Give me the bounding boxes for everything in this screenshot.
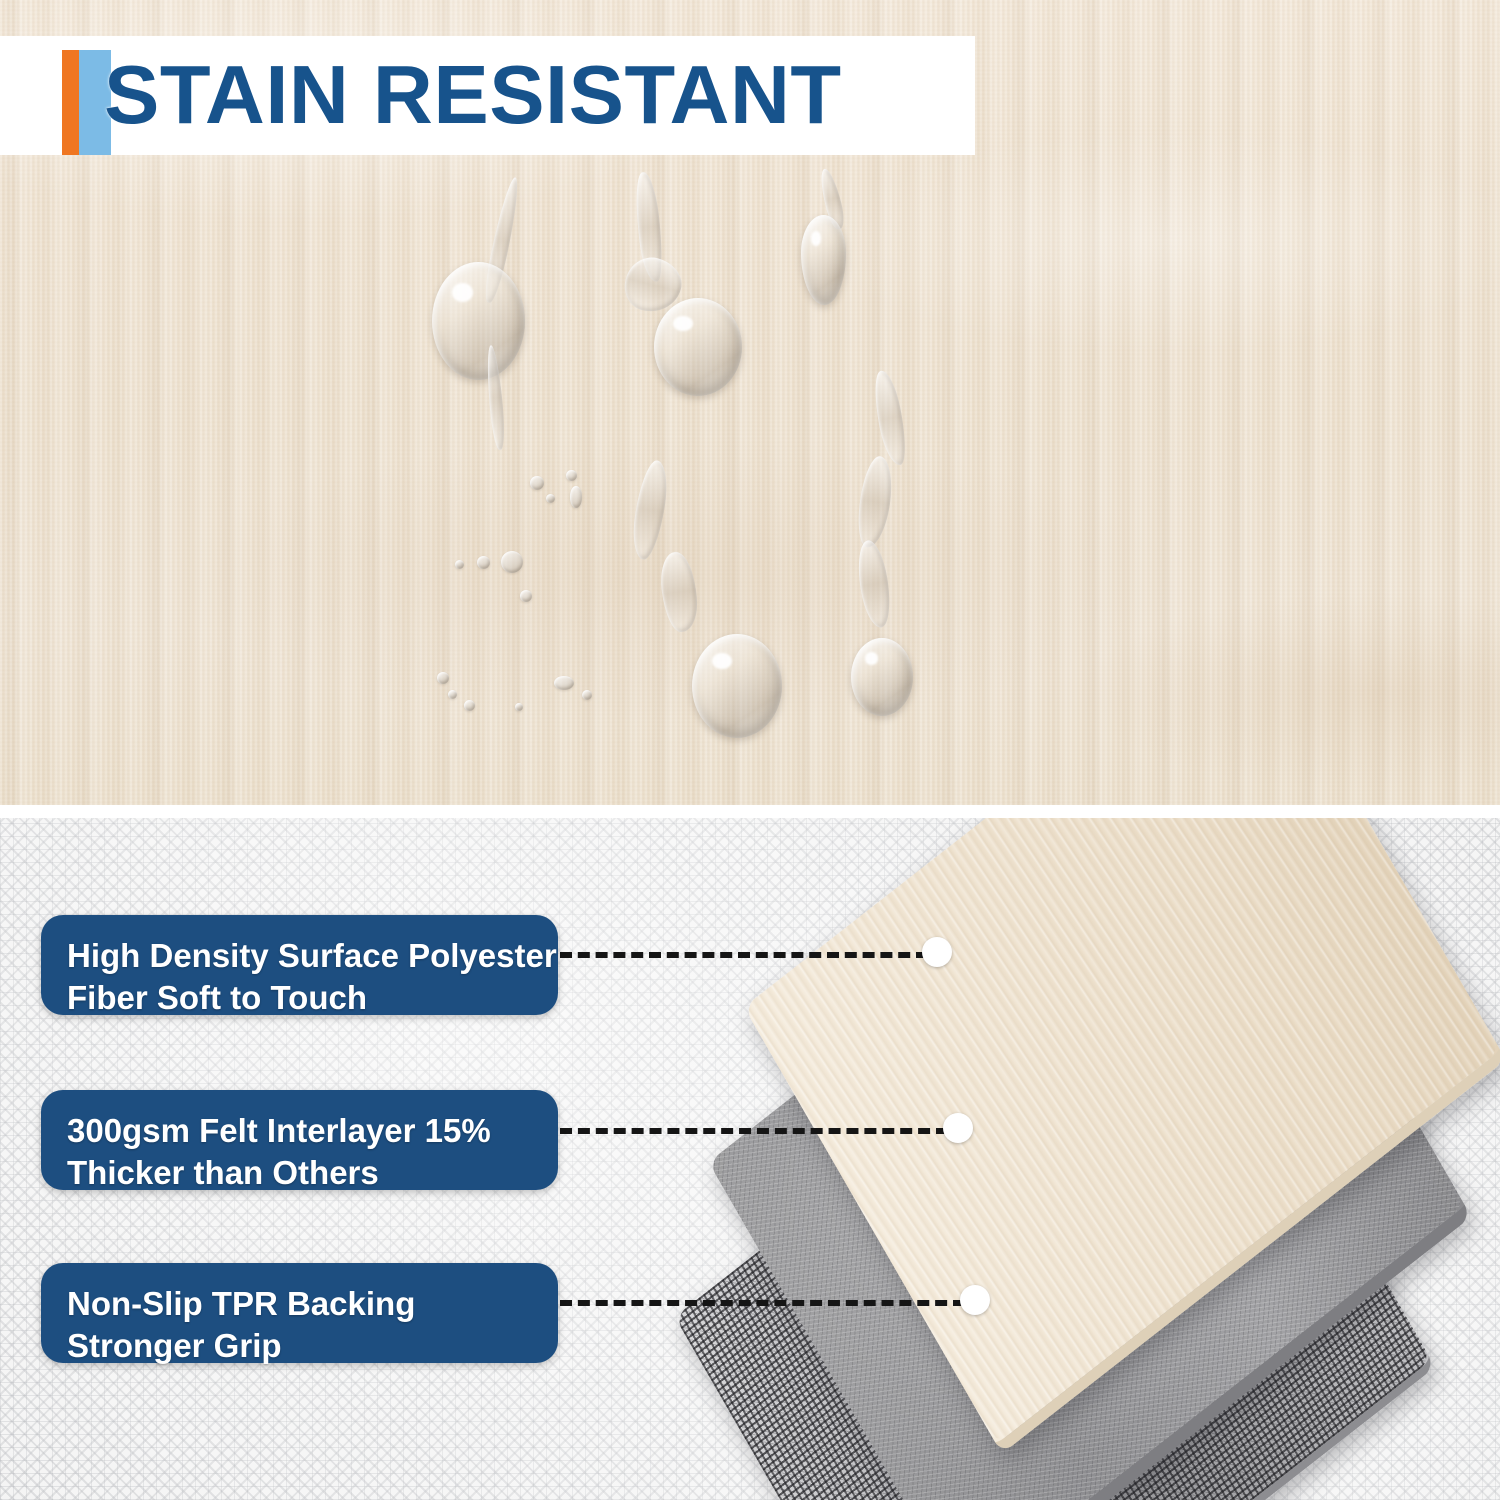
- mini-droplet-12: [554, 676, 574, 690]
- water-droplet-1: [432, 262, 525, 380]
- mini-droplet-3: [546, 494, 555, 503]
- mini-droplet-9: [437, 672, 449, 684]
- droplet-tail-5c: [853, 538, 894, 629]
- stain-resistant-panel: STAIN RESISTANT: [0, 0, 1500, 805]
- callout-surface-line-2: Fiber Soft to Touch: [67, 977, 532, 1019]
- accent-bar-orange-icon: [62, 50, 79, 155]
- water-droplet-4: [692, 634, 782, 738]
- callout-surface-line-1: High Density Surface Polyester: [67, 935, 532, 977]
- section-divider: [0, 805, 1500, 818]
- page-title: STAIN RESISTANT: [104, 42, 842, 147]
- water-droplet-2: [654, 298, 742, 396]
- mini-droplet-11: [464, 700, 475, 711]
- mini-droplet-14: [515, 703, 523, 711]
- mini-droplet-8: [520, 590, 532, 602]
- callout-felt-interlayer[interactable]: 300gsm Felt Interlayer 15% Thicker than …: [41, 1090, 558, 1190]
- mini-droplet-7: [455, 560, 464, 569]
- mini-droplet-1: [530, 476, 544, 490]
- water-droplet-3: [801, 215, 846, 305]
- mini-droplet-13: [582, 690, 592, 700]
- droplet-tail-4b: [657, 550, 700, 634]
- mini-droplet-4: [570, 486, 582, 508]
- callout-surface-layer[interactable]: High Density Surface Polyester Fiber Sof…: [41, 915, 558, 1015]
- connector-line-felt: [560, 1128, 948, 1134]
- connector-node-tpr-icon: [960, 1285, 990, 1315]
- connector-line-tpr: [560, 1300, 965, 1306]
- infographic-page: STAIN RESISTANT High Density Surface Pol…: [0, 0, 1500, 1500]
- mini-droplet-6: [477, 556, 490, 569]
- callout-felt-line-2: Thicker than Others: [67, 1152, 532, 1194]
- droplet-tail-5b: [854, 454, 897, 549]
- connector-line-surface: [560, 952, 928, 958]
- callout-tpr-line-2: Stronger Grip: [67, 1325, 532, 1367]
- callout-felt-line-1: 300gsm Felt Interlayer 15%: [67, 1110, 532, 1152]
- connector-node-surface-icon: [922, 937, 952, 967]
- mini-droplet-5: [501, 551, 523, 573]
- callout-tpr-backing[interactable]: Non-Slip TPR Backing Stronger Grip: [41, 1263, 558, 1363]
- callout-tpr-line-1: Non-Slip TPR Backing: [67, 1283, 532, 1325]
- connector-node-felt-icon: [943, 1113, 973, 1143]
- water-droplet-5: [851, 638, 913, 716]
- droplet-tail-5: [869, 369, 911, 468]
- droplet-tail-4: [628, 458, 671, 561]
- mini-droplet-2: [566, 470, 577, 481]
- mini-droplet-10: [448, 690, 457, 699]
